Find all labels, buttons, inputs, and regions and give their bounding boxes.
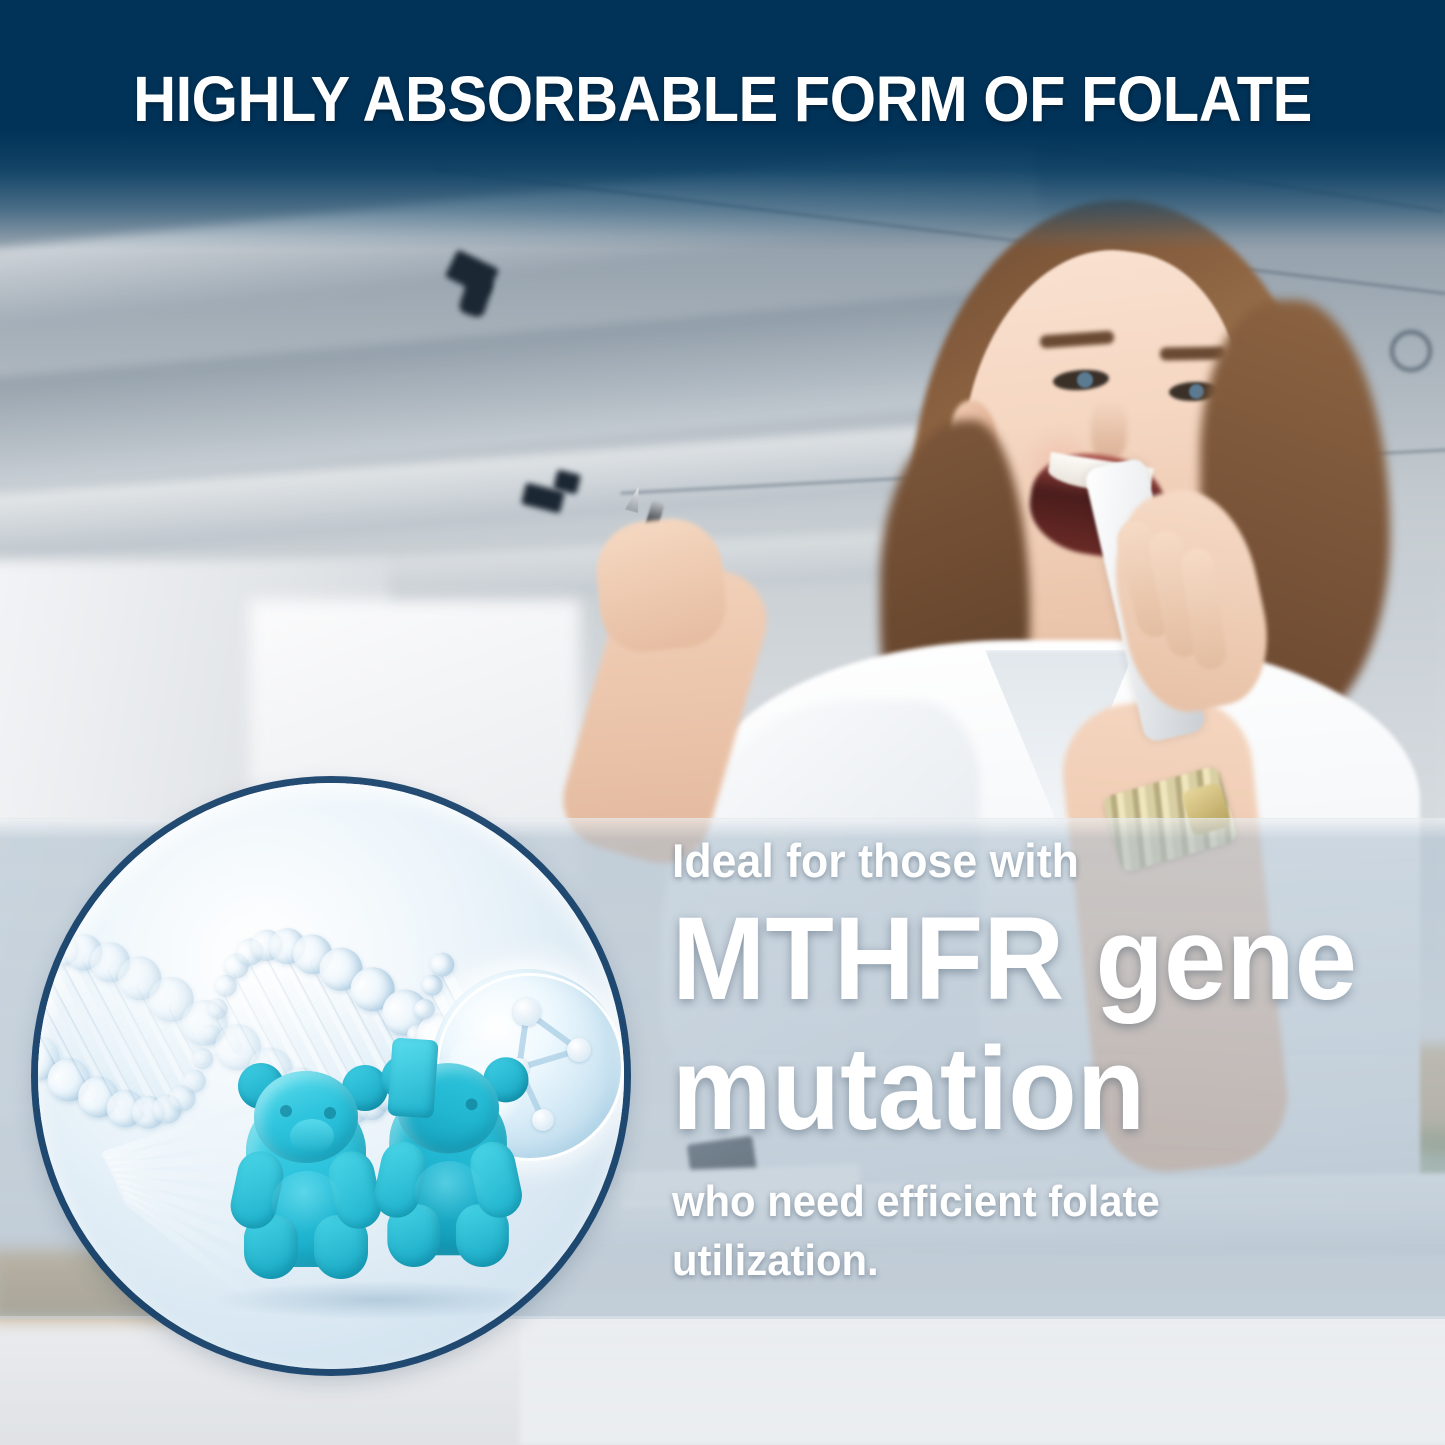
woman-nose	[1091, 400, 1127, 460]
copy-headline-line-1: MTHFR gene	[672, 902, 1394, 1016]
gummy-highlight-cap	[387, 1037, 438, 1118]
gummy-belly	[272, 1171, 342, 1233]
gummy-eye	[280, 1105, 292, 1117]
gummy-eye	[324, 1107, 336, 1119]
woman-iris	[1077, 372, 1093, 388]
gummy-snout	[290, 1119, 334, 1153]
copy-headline-line-2: mutation	[672, 1032, 1394, 1146]
molecule-node	[567, 1038, 591, 1062]
copy-eyebrow: Ideal for those with	[672, 836, 1394, 886]
woman-left-hand	[592, 514, 731, 656]
copy-tail-line-1: who need efficient folate	[672, 1173, 1394, 1232]
ceiling-light-ring	[1390, 330, 1432, 372]
dna-gummy-inset	[38, 783, 624, 1369]
woman-iris	[1189, 384, 1204, 399]
gummy-eye	[466, 1098, 478, 1110]
molecule-node	[513, 998, 541, 1026]
copy-tail-line-2: utilization.	[672, 1232, 1394, 1291]
page-title: HIGHLY ABSORBABLE FORM OF FOLATE	[51, 62, 1395, 136]
product-marketing-image: HIGHLY ABSORBABLE FORM OF FOLATE Ideal f…	[0, 0, 1445, 1445]
copy-block: Ideal for those with MTHFR gene mutation…	[672, 836, 1432, 1291]
gummy-belly	[415, 1161, 484, 1222]
